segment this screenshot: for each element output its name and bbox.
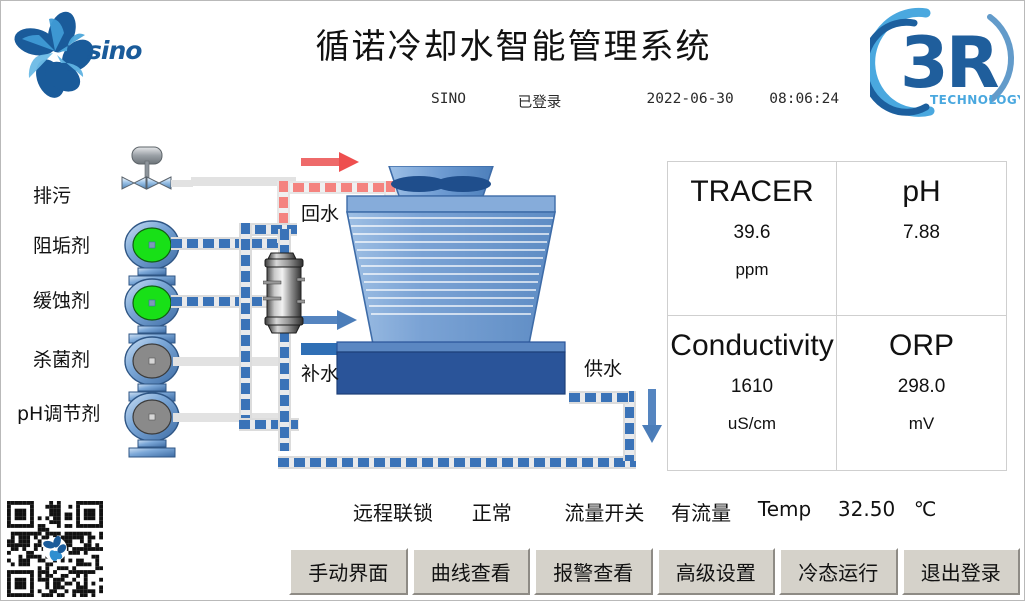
measurement-cell-ph: pH 7.88	[837, 162, 1006, 316]
measurement-cell-conductivity: Conductivity 1610 uS/cm	[668, 316, 837, 470]
qr-code	[7, 501, 103, 597]
pipe-biocide-idle	[173, 357, 283, 366]
current-time: 08:06:24	[769, 91, 839, 107]
measurement-unit: ppm	[735, 260, 768, 280]
remote-interlock-value: 正常	[472, 497, 512, 526]
pipe-exchanger-outlet	[278, 331, 291, 451]
logout-button[interactable]: 退出登录	[902, 548, 1021, 595]
measurement-unit: mV	[909, 414, 935, 434]
cold-start-run-button[interactable]: 冷态运行	[779, 548, 898, 595]
pipe-loop-left	[239, 223, 252, 431]
logged-in-user: SINO	[431, 91, 509, 107]
supply-flow-arrow-icon	[641, 389, 663, 445]
measurement-panel: TRACER 39.6 ppm pH 7.88 Conductivity 161…	[667, 161, 1007, 471]
application-window: sino 3R TECHNOLOGY 循诺冷却水智能管理系统 SINO 已登录 …	[0, 0, 1025, 601]
action-button-bar: 手动界面 曲线查看 报警查看 高级设置 冷态运行 退出登录	[289, 548, 1020, 595]
flow-label-makeup: 补水	[301, 359, 339, 386]
alarm-view-button[interactable]: 报警查看	[534, 548, 653, 595]
measurement-title: Conductivity	[670, 330, 833, 362]
temp-value: 32.50	[838, 497, 895, 521]
measurement-title: pH	[902, 176, 940, 208]
measurement-title: ORP	[889, 330, 954, 362]
temp-label: Temp	[758, 497, 811, 521]
measurement-value: 39.6	[734, 222, 771, 244]
temp-unit: ℃	[914, 497, 936, 521]
measurement-value: 7.88	[903, 222, 940, 244]
manual-interface-button[interactable]: 手动界面	[289, 548, 408, 595]
flow-label-return: 回水	[301, 199, 339, 226]
remote-interlock-label: 远程联锁	[353, 497, 433, 526]
flow-switch-value: 有流量	[671, 497, 731, 526]
row-label-antiscalant: 阻垢剂	[33, 231, 90, 258]
blowdown-valve-icon[interactable]	[119, 143, 193, 207]
flow-label-supply: 供水	[584, 354, 622, 381]
measurement-cell-orp: ORP 298.0 mV	[837, 316, 1006, 470]
heat-exchanger-icon[interactable]	[263, 249, 305, 337]
page-title: 循诺冷却水智能管理系统	[1, 19, 1025, 68]
login-state: 已登录	[518, 91, 638, 112]
row-label-biocide: 杀菌剂	[33, 345, 90, 372]
flow-switch-label: 流量开关	[564, 497, 644, 526]
curve-view-button[interactable]: 曲线查看	[412, 548, 531, 595]
bottom-status-bar: 远程联锁 正常 流量开关 有流量 Temp 32.50 ℃	[353, 497, 936, 525]
advanced-settings-button[interactable]: 高级设置	[657, 548, 776, 595]
measurement-unit: uS/cm	[728, 414, 776, 434]
pump-ph-adjuster[interactable]	[121, 391, 183, 459]
measurement-value: 298.0	[898, 376, 946, 398]
pipe-loop-bottom	[278, 456, 636, 469]
measurement-title: TRACER	[690, 176, 813, 208]
row-label-ph-adjuster: pH调节剂	[17, 399, 100, 426]
header-status-line: SINO 已登录 2022-06-30 08:06:24	[431, 91, 991, 113]
measurement-value: 1610	[731, 376, 773, 398]
row-label-blowdown: 排污	[33, 181, 71, 208]
measurement-cell-tracer: TRACER 39.6 ppm	[668, 162, 837, 316]
current-date: 2022-06-30	[646, 91, 733, 107]
row-label-inhibitor: 缓蚀剂	[33, 286, 90, 313]
cooling-tower-graphic	[331, 166, 591, 416]
